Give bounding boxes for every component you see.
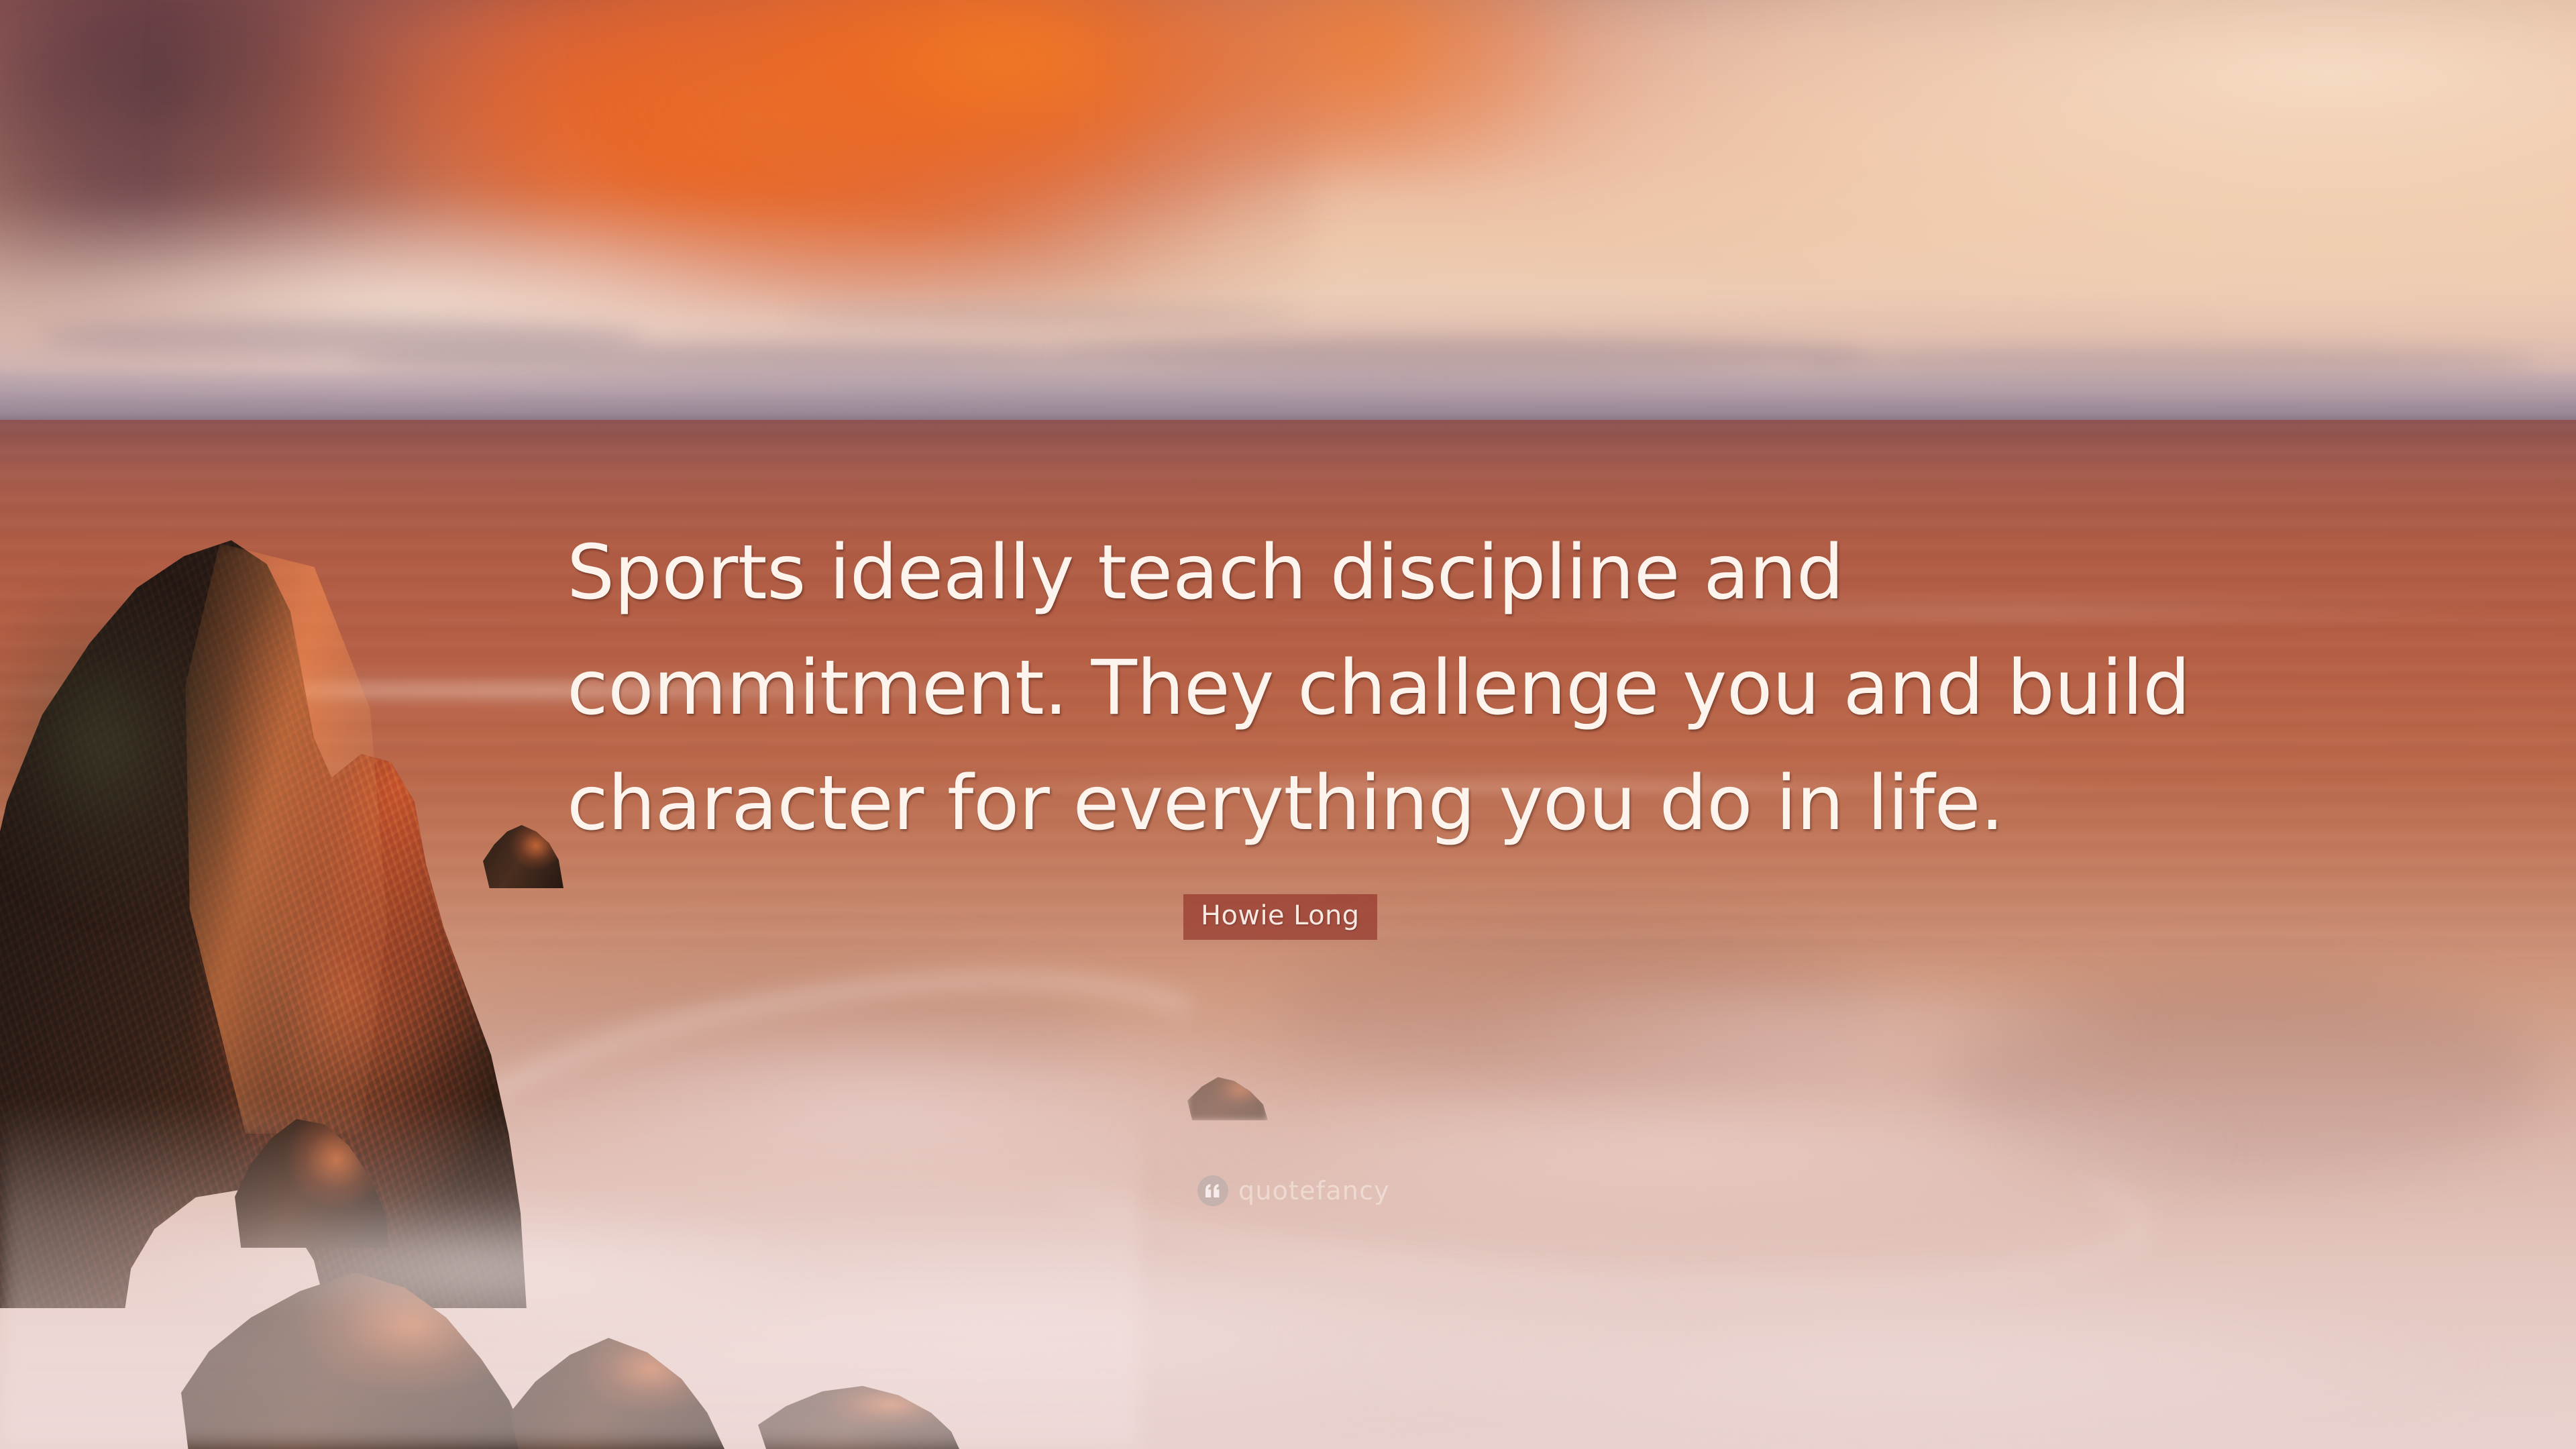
quote-line-2: commitment. They challenge you and build [567,631,2049,746]
wallpaper-canvas: Sports ideally teach discipline and comm… [0,0,2576,1449]
author-badge: Howie Long [1183,894,1377,940]
quote-block: Sports ideally teach discipline and comm… [567,515,2049,861]
quote-line-3: character for everything you do in life. [567,746,2049,861]
quote-line-1: Sports ideally teach discipline and [567,515,2049,631]
quotefancy-wordmark: quotefancy [1238,1177,1390,1204]
quotefancy-watermark[interactable]: quotefancy [1197,1175,1390,1206]
quote-mark-icon [1197,1175,1228,1206]
overlay-content: Sports ideally teach discipline and comm… [0,0,2576,1449]
